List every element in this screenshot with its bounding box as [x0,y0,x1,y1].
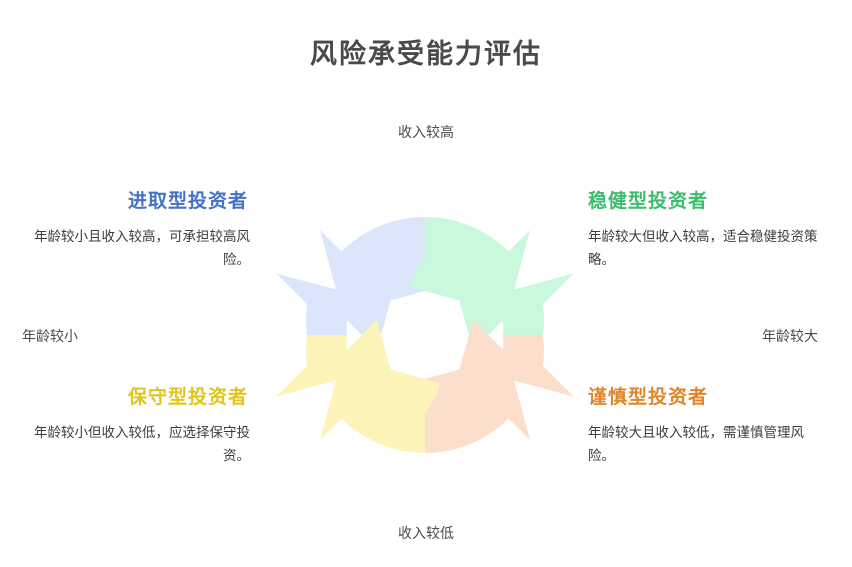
ring-svg [266,176,584,494]
quadrant-heading-bottom-right: 谨慎型投资者 [588,386,838,411]
quadrant-description-bottom-left: 年龄较小但收入较低，应选择保守投资。 [0,421,250,468]
quadrant-description-top-right: 年龄较大但收入较高，适合稳健投资策略。 [588,225,838,272]
quadrant-description-bottom-right: 年龄较大且收入较低，需谨慎管理风险。 [588,421,838,468]
quadrant-block-top-left: 进取型投资者 年龄较小且收入较高，可承担较高风险。 [0,190,250,272]
axis-label-bottom: 收入较低 [0,523,852,543]
quadrant-heading-top-right: 稳健型投资者 [588,190,838,215]
quadrant-block-top-right: 稳健型投资者 年龄较大但收入较高，适合稳健投资策略。 [588,190,838,272]
page-title: 风险承受能力评估 [0,32,852,71]
quadrant-description-top-left: 年龄较小且收入较高，可承担较高风险。 [0,225,250,272]
quadrant-heading-bottom-left: 保守型投资者 [0,386,250,411]
axis-label-left: 年龄较小 [0,326,100,346]
axis-label-top: 收入较高 [0,122,852,142]
quadrant-heading-top-left: 进取型投资者 [0,190,250,215]
ring-segment-top-right[interactable] [410,217,574,350]
chart-canvas: 风险承受能力评估 收入较高 收入较低 年龄较小 年龄较大 进取型投资者 年龄较小… [0,0,852,567]
axis-label-right: 年龄较大 [740,326,840,346]
quadrant-block-bottom-right: 谨慎型投资者 年龄较大且收入较低，需谨慎管理风险。 [588,386,838,468]
ring-segment-bottom-left[interactable] [276,320,440,453]
quadrant-block-bottom-left: 保守型投资者 年龄较小但收入较低，应选择保守投资。 [0,386,250,468]
quadrant-ring-diagram [266,176,584,494]
